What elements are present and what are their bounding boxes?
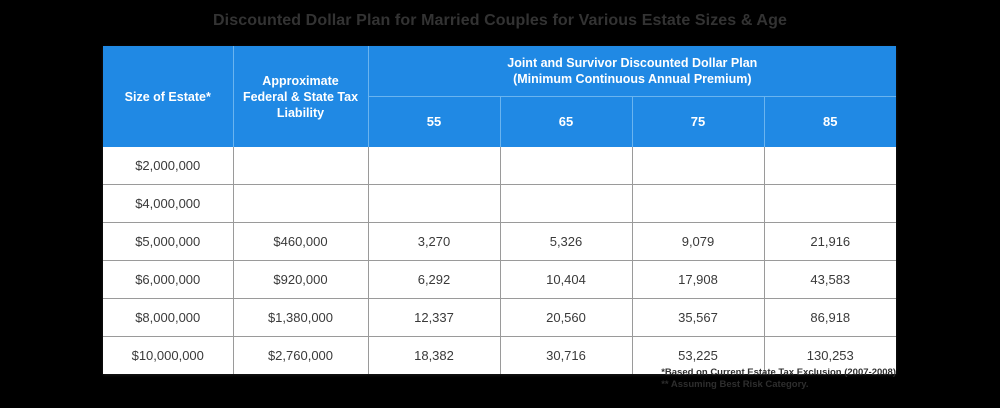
table-row: $5,000,000 $460,000 3,270 5,326 9,079 21…	[103, 223, 896, 261]
table-row: $2,000,000	[103, 147, 896, 185]
plan-group-line-2: (Minimum Continuous Annual Premium)	[375, 71, 891, 87]
column-header-age-85: 85	[764, 97, 896, 148]
cell-estate: $2,000,000	[103, 147, 233, 185]
cell-age-75: 9,079	[632, 223, 764, 261]
cell-estate: $10,000,000	[103, 337, 233, 375]
cell-age-75: 35,567	[632, 299, 764, 337]
cell-estate: $6,000,000	[103, 261, 233, 299]
cell-age-65	[500, 147, 632, 185]
cell-age-75	[632, 185, 764, 223]
cell-tax: $1,380,000	[233, 299, 368, 337]
tax-header-line-3: Liability	[240, 105, 362, 121]
cell-age-65: 20,560	[500, 299, 632, 337]
cell-tax: $920,000	[233, 261, 368, 299]
plan-table-container: Size of Estate* Approximate Federal & St…	[103, 46, 896, 374]
cell-age-55	[368, 147, 500, 185]
cell-estate: $8,000,000	[103, 299, 233, 337]
cell-tax	[233, 185, 368, 223]
page-title: Discounted Dollar Plan for Married Coupl…	[0, 12, 1000, 30]
cell-age-65	[500, 185, 632, 223]
table-body: $2,000,000 $4,000,000 $5,000,000	[103, 147, 896, 374]
footnote-risk-category: ** Assuming Best Risk Category.	[661, 379, 896, 391]
column-header-size-of-estate: Size of Estate*	[103, 46, 233, 147]
column-header-age-65: 65	[500, 97, 632, 148]
tax-header-line-1: Approximate	[240, 73, 362, 89]
table-row: $6,000,000 $920,000 6,292 10,404 17,908 …	[103, 261, 896, 299]
plan-group-line-1: Joint and Survivor Discounted Dollar Pla…	[375, 55, 891, 71]
cell-age-55: 12,337	[368, 299, 500, 337]
cell-age-55	[368, 185, 500, 223]
table-header: Size of Estate* Approximate Federal & St…	[103, 46, 896, 147]
cell-age-55: 18,382	[368, 337, 500, 375]
cell-age-85	[764, 147, 896, 185]
footnote-estate-tax-exclusion: *Based on Current Estate Tax Exclusion (…	[661, 367, 896, 379]
cell-age-65: 30,716	[500, 337, 632, 375]
cell-age-85	[764, 185, 896, 223]
cell-age-85: 86,918	[764, 299, 896, 337]
cell-age-85: 21,916	[764, 223, 896, 261]
cell-age-55: 3,270	[368, 223, 500, 261]
cell-age-65: 5,326	[500, 223, 632, 261]
plan-table: Size of Estate* Approximate Federal & St…	[103, 46, 896, 374]
table-row: $8,000,000 $1,380,000 12,337 20,560 35,5…	[103, 299, 896, 337]
cell-tax: $460,000	[233, 223, 368, 261]
cell-estate: $4,000,000	[103, 185, 233, 223]
cell-tax	[233, 147, 368, 185]
column-header-age-75: 75	[632, 97, 764, 148]
column-header-age-55: 55	[368, 97, 500, 148]
table-row: $4,000,000	[103, 185, 896, 223]
column-group-header-joint-survivor-plan: Joint and Survivor Discounted Dollar Pla…	[368, 46, 896, 97]
column-header-tax-liability: Approximate Federal & State Tax Liabilit…	[233, 46, 368, 147]
page-root: Discounted Dollar Plan for Married Coupl…	[0, 0, 1000, 408]
header-row-top: Size of Estate* Approximate Federal & St…	[103, 46, 896, 97]
cell-age-65: 10,404	[500, 261, 632, 299]
footnotes: *Based on Current Estate Tax Exclusion (…	[661, 367, 896, 391]
cell-age-85: 43,583	[764, 261, 896, 299]
cell-age-55: 6,292	[368, 261, 500, 299]
cell-tax: $2,760,000	[233, 337, 368, 375]
cell-age-75: 17,908	[632, 261, 764, 299]
tax-header-line-2: Federal & State Tax	[240, 89, 362, 105]
cell-age-75	[632, 147, 764, 185]
cell-estate: $5,000,000	[103, 223, 233, 261]
